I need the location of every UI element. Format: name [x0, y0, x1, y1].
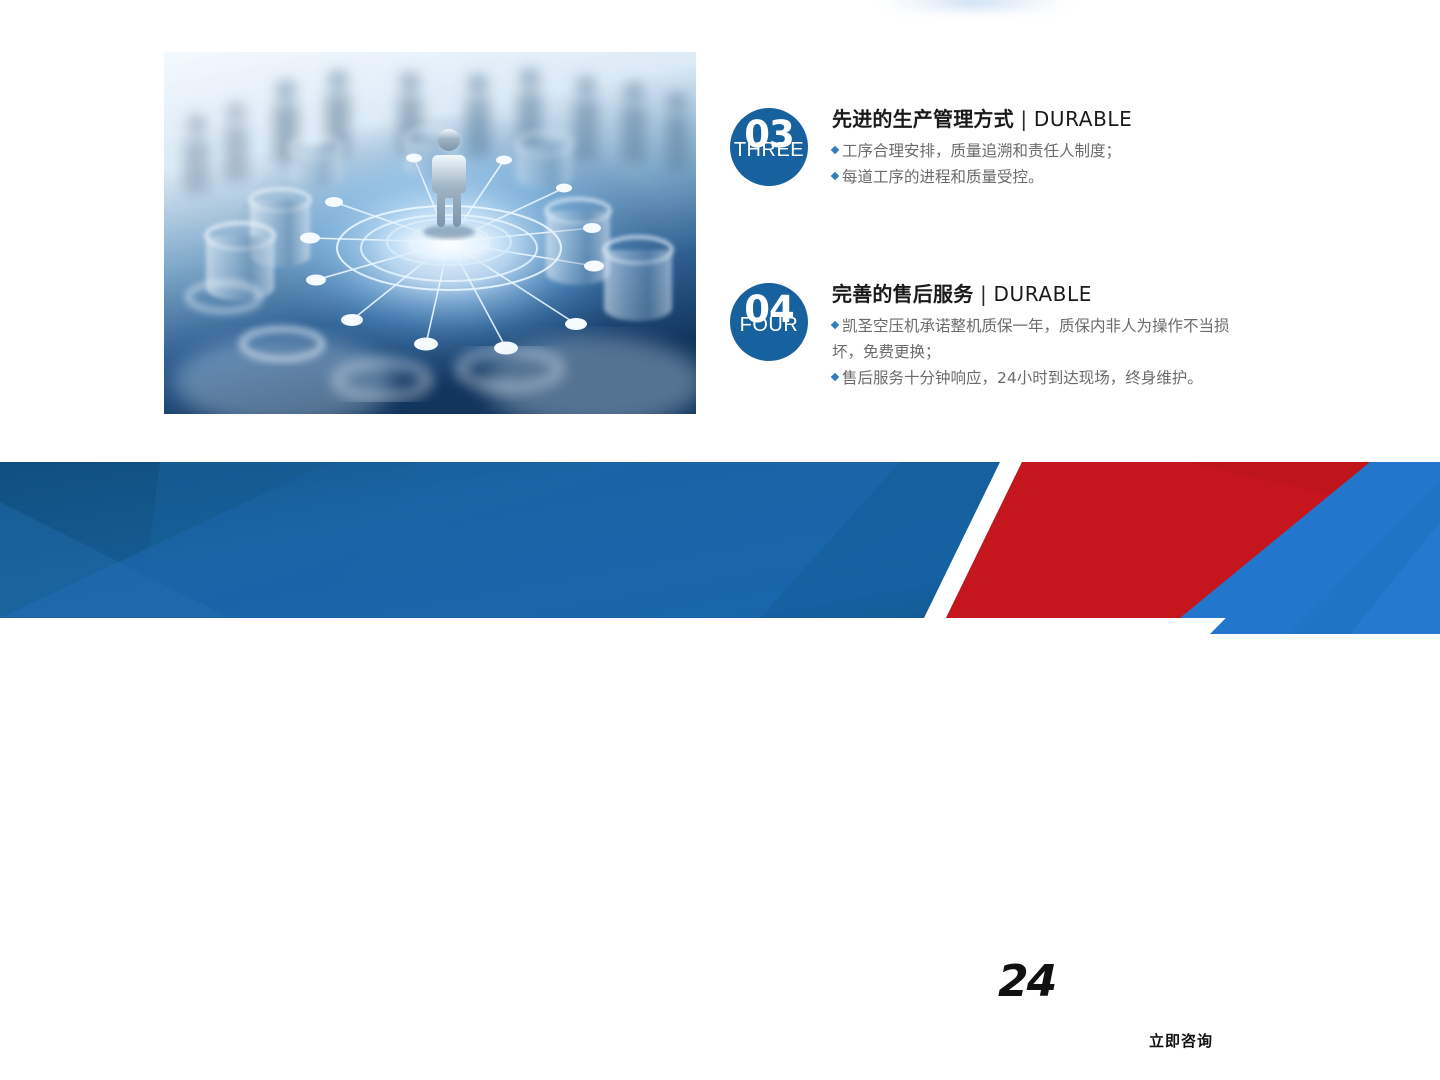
feature-word-03: THREE [730, 140, 808, 160]
feature-title-en-04: DURABLE [993, 282, 1092, 306]
diamond-bullet-icon [831, 146, 839, 154]
feature-bullet-text: 工序合理安排，质量追溯和责任人制度； [842, 142, 1121, 160]
slogan-line-1: 专业提供空压机系统全套解决方案 [232, 962, 652, 999]
diamond-bullet-icon [831, 321, 839, 329]
feature-title-sep-04: | [973, 282, 993, 306]
feature-bullet-list-04: 凯圣空压机承诺整机质保一年，质保内非人为操作不当损坏，免费更换； 售后服务十分钟… [832, 313, 1242, 391]
feature-title-sep-03: | [1014, 107, 1034, 131]
feature-title-cn-04: 完善的售后服务 [832, 282, 973, 306]
feature-bullet-list-03: 工序合理安排，质量追溯和责任人制度； 每道工序的进程和质量受控。 [832, 138, 1242, 190]
hotline-phone-number: 400-881-8971 [1078, 982, 1310, 1016]
feature-bullet-text: 凯圣空压机承诺整机质保一年，质保内非人为操作不当损坏，免费更换； [832, 317, 1230, 361]
feature-title-04: 完善的售后服务 | DURABLE [832, 281, 1242, 307]
feature-bullet-text: 售后服务十分钟响应，24小时到达现场，终身维护。 [842, 369, 1203, 387]
feature-bullet-text: 每道工序的进程和质量受控。 [842, 168, 1044, 186]
network-illustration-svg [164, 52, 696, 414]
diamond-bullet-icon [831, 172, 839, 180]
banner-right-wedge-svg [1150, 462, 1440, 663]
feature-title-en-03: DURABLE [1034, 107, 1133, 131]
feature-bullet-item: 工序合理安排，质量追溯和责任人制度； [832, 138, 1242, 164]
feature-badge-03: 03 THREE [730, 108, 808, 186]
slogan-line-2: 完善贴心的售后服务，及时为您解决问题 [318, 1023, 822, 1060]
banner-right-wedge-overflow [1150, 462, 1440, 663]
network-illustration-image [164, 52, 696, 414]
service-24h-logo: 24 [998, 960, 1055, 1004]
hotline-label: 小时服务热线： [1080, 964, 1185, 984]
feature-body-03: 先进的生产管理方式 | DURABLE 工序合理安排，质量追溯和责任人制度； 每… [832, 106, 1242, 190]
diamond-bullet-icon [831, 373, 839, 381]
feature-body-04: 完善的售后服务 | DURABLE 凯圣空压机承诺整机质保一年，质保内非人为操作… [832, 281, 1242, 391]
feature-title-cn-03: 先进的生产管理方式 [832, 107, 1014, 131]
feature-bullet-item: 每道工序的进程和质量受控。 [832, 164, 1242, 190]
feature-title-03: 先进的生产管理方式 | DURABLE [832, 106, 1242, 132]
service-24h-digits: 24 [998, 956, 1055, 1007]
feature-word-04: FOUR [730, 315, 808, 335]
feature-badge-04: 04 FOUR [730, 283, 808, 361]
banner-contact-block: 24 小时服务热线： 400-881-8971 立即咨询 [960, 924, 1260, 1080]
top-edge-smudge [880, 0, 1070, 12]
page-root: 03 THREE 先进的生产管理方式 | DURABLE 工序合理安排，质量追溯… [0, 0, 1440, 663]
feature-bullet-item: 凯圣空压机承诺整机质保一年，质保内非人为操作不当损坏，免费更换； [832, 313, 1242, 365]
banner-slogan: 专业提供空压机系统全套解决方案 完善贴心的售后服务，及时为您解决问题 [0, 924, 960, 1080]
feature-bullet-item: 售后服务十分钟响应，24小时到达现场，终身维护。 [832, 365, 1242, 391]
consult-now-button[interactable]: 立即咨询 [1132, 1028, 1230, 1052]
